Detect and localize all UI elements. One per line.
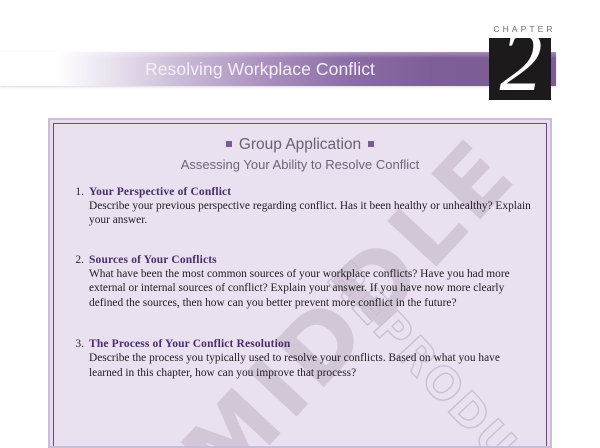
chapter-number-box: 2: [489, 38, 551, 100]
square-bullet-left-icon: [226, 141, 232, 147]
chapter-number: 2: [489, 38, 551, 100]
item-number: 1.: [70, 186, 84, 198]
group-application-box: MIDDLE REPRODUCTION Group Application As…: [48, 118, 552, 448]
list-item: 1. Your Perspective of Conflict Describe…: [70, 186, 532, 228]
item-text: What have been the most common sources o…: [89, 267, 532, 310]
title-banner: Resolving Workplace Conflict: [0, 52, 556, 86]
box-subtitle: Assessing Your Ability to Resolve Confli…: [54, 157, 546, 172]
group-application-heading-text: Group Application: [239, 136, 361, 153]
item-number: 2.: [70, 254, 84, 266]
chapter-label: CHAPTER: [483, 24, 563, 34]
item-body: Your Perspective of Conflict Describe yo…: [89, 186, 532, 228]
item-title: Your Perspective of Conflict: [89, 186, 532, 198]
square-bullet-right-icon: [368, 141, 374, 147]
item-text: Describe your previous perspective regar…: [89, 199, 532, 228]
group-application-heading: Group Application: [54, 136, 546, 154]
item-text: Describe the process you typically used …: [89, 351, 532, 380]
item-number: 3.: [70, 338, 84, 350]
list-item: 3. The Process of Your Conflict Resoluti…: [70, 338, 532, 380]
list-item: 2. Sources of Your Conflicts What have b…: [70, 254, 532, 310]
banner-title: Resolving Workplace Conflict: [0, 52, 520, 86]
item-body: Sources of Your Conflicts What have been…: [89, 254, 532, 310]
box-heading-area: Group Application Assessing Your Ability…: [54, 136, 546, 172]
item-title: Sources of Your Conflicts: [89, 254, 532, 266]
item-title: The Process of Your Conflict Resolution: [89, 338, 532, 350]
item-body: The Process of Your Conflict Resolution …: [89, 338, 532, 380]
group-application-box-inner: MIDDLE REPRODUCTION Group Application As…: [53, 123, 547, 446]
numbered-items-list: 1. Your Perspective of Conflict Describe…: [70, 186, 532, 393]
page-header: Resolving Workplace Conflict CHAPTER 2: [0, 0, 600, 110]
